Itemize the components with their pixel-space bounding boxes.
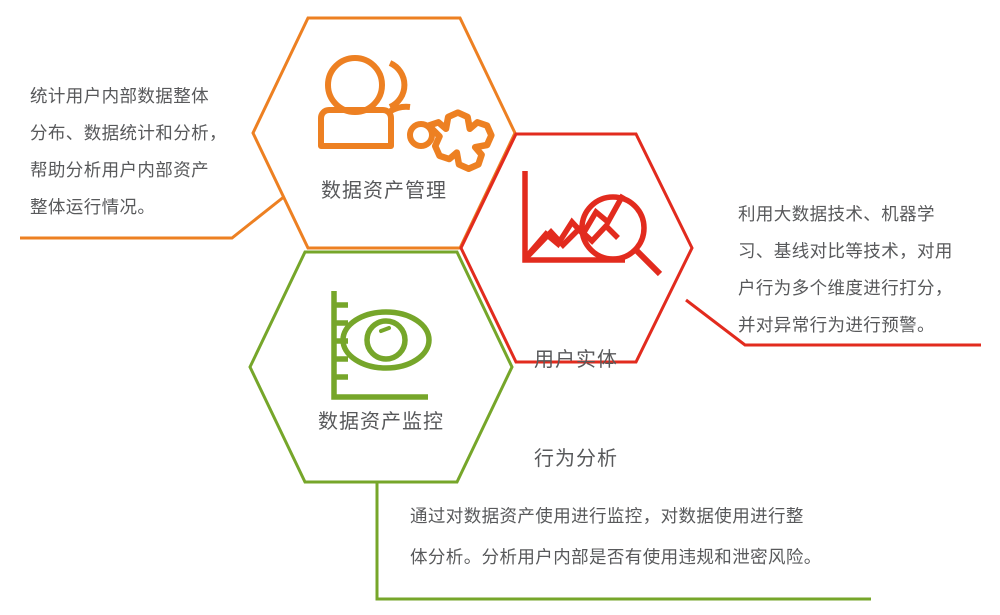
- description-line: 并对异常行为进行预警。: [738, 307, 978, 344]
- description-line: 通过对数据资产使用进行监控，对数据使用进行整: [410, 496, 880, 537]
- description-user-entity-behavior-analytics: 利用大数据技术、机器学 习、基线对比等技术，对用 户行为多个维度进行打分， 并对…: [738, 196, 978, 344]
- description-line: 整体运行情况。: [30, 189, 260, 226]
- description-line: 帮助分析用户内部资产: [30, 152, 260, 189]
- hexagon-data-asset-monitoring[interactable]: [250, 252, 512, 482]
- description-line: 利用大数据技术、机器学: [738, 196, 978, 233]
- description-line: 统计用户内部数据整体: [30, 78, 260, 115]
- description-data-asset-monitoring: 通过对数据资产使用进行监控，对数据使用进行整 体分析。分析用户内部是否有使用违规…: [410, 496, 880, 578]
- diagram-canvas: 数据资产管理 用户实体 行为分析 数据资产监控 统计用户内部数据整体 分布、数据…: [0, 0, 1000, 615]
- description-line: 习、基线对比等技术，对用: [738, 233, 978, 270]
- hexagon-outline-orange: [253, 18, 515, 248]
- description-line: 体分析。分析用户内部是否有使用违规和泄密风险。: [410, 537, 880, 578]
- description-line: 户行为多个维度进行打分，: [738, 270, 978, 307]
- hexagon-data-asset-management[interactable]: [253, 18, 515, 248]
- description-line: 分布、数据统计和分析，: [30, 115, 260, 152]
- description-data-asset-management: 统计用户内部数据整体 分布、数据统计和分析， 帮助分析用户内部资产 整体运行情况…: [30, 78, 260, 226]
